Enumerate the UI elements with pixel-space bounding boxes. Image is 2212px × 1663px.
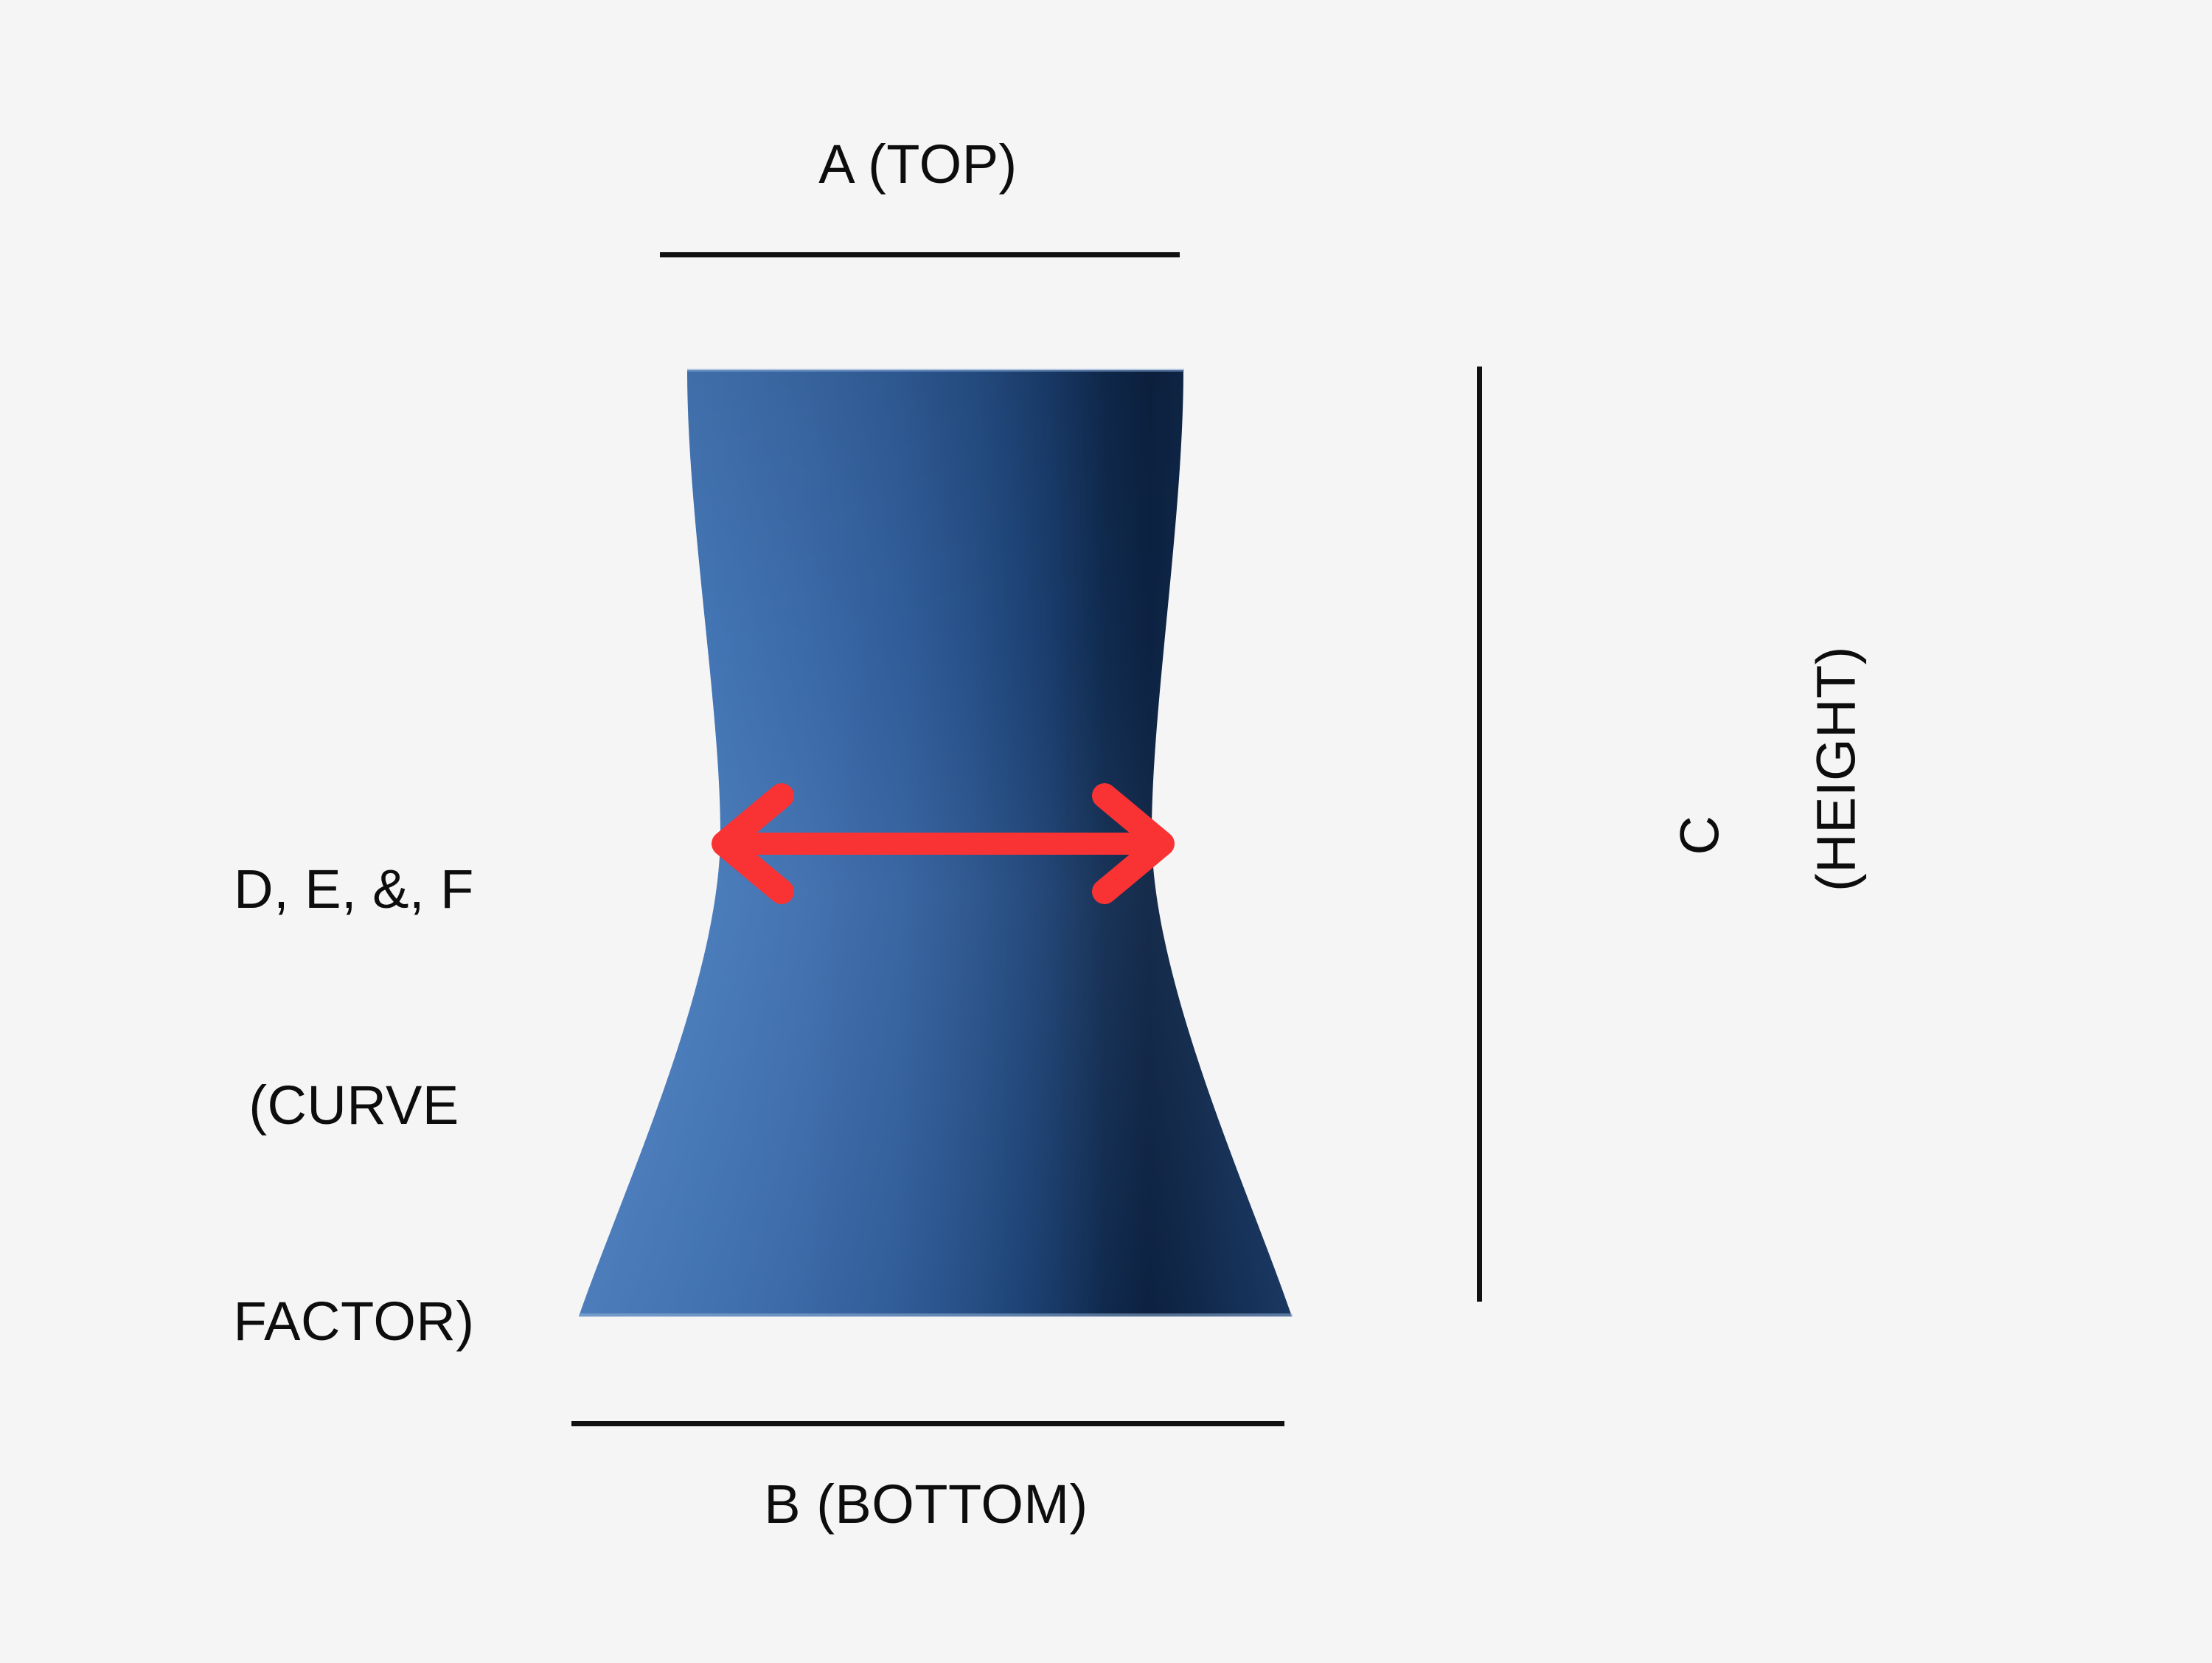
width-arrow-svg <box>708 778 1180 911</box>
bottom-dimension-rule <box>571 1421 1284 1426</box>
width-arrow <box>708 778 1180 911</box>
height-dimension-rule <box>1477 367 1482 1302</box>
curve-factor-line-1: D, E, &, F <box>125 853 582 926</box>
height-label-letter: C <box>1669 732 1731 939</box>
height-label-word: (HEIGHT) <box>1805 596 1868 942</box>
curve-factor-line-2: (CURVE <box>125 1069 582 1142</box>
vessel-top-rim <box>687 369 1184 372</box>
label-def-curve-factor: D, E, &, F (CURVE FACTOR) <box>125 709 582 1501</box>
curve-factor-line-3: FACTOR) <box>125 1285 582 1358</box>
label-b-bottom: B (BOTTOM) <box>0 1471 1852 1538</box>
diagram-canvas: A (TOP) <box>0 0 2212 1659</box>
arrow-shaft <box>730 833 1159 855</box>
label-a-top: A (TOP) <box>0 131 1836 198</box>
top-dimension-rule <box>660 252 1180 257</box>
vessel-bottom-rim <box>579 1313 1293 1317</box>
label-c-height: C (HEIGHT) <box>1641 664 1935 1010</box>
